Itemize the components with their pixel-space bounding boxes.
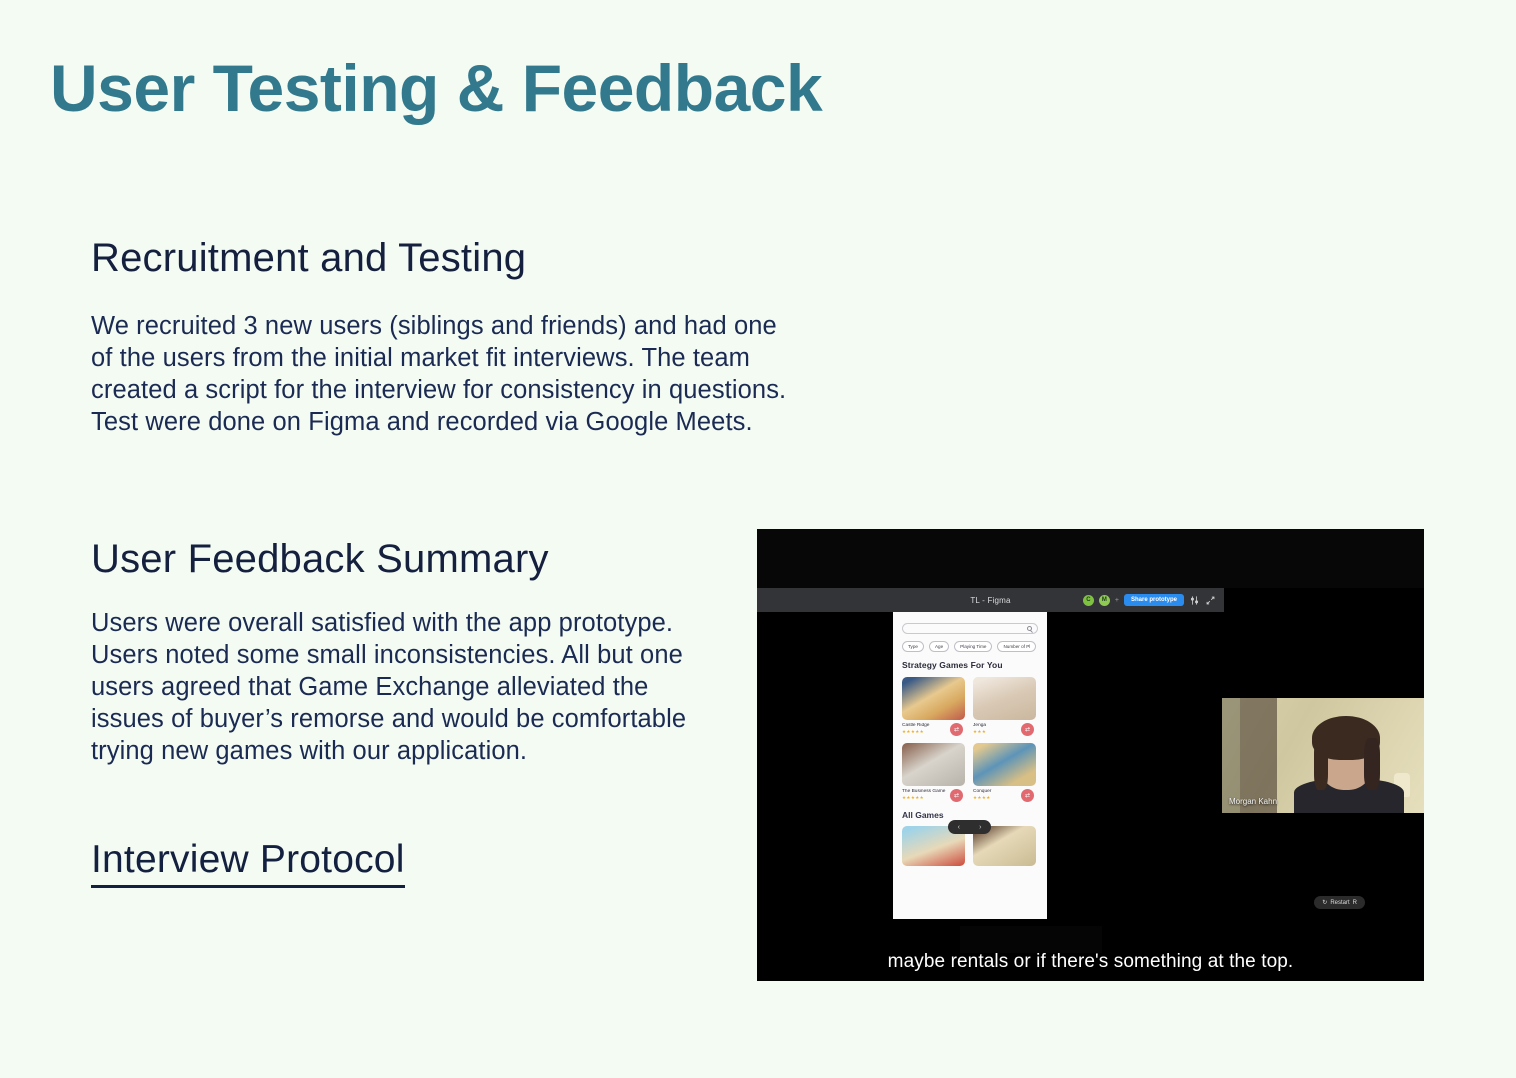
figma-toolbar: TL - Figma C M + Share prototype [757, 588, 1224, 612]
game-thumbnail [902, 743, 965, 786]
body-line: Users were overall satisfied with the ap… [91, 607, 821, 639]
body-line: We recruited 3 new users (siblings and f… [91, 310, 821, 342]
strategy-games-heading: Strategy Games For You [902, 660, 1047, 670]
slide: User Testing & Feedback Recruitment and … [0, 0, 1516, 1078]
game-thumbnail [973, 677, 1036, 720]
body-line: users agreed that Game Exchange alleviat… [91, 671, 821, 703]
body-line: created a script for the interview for c… [91, 374, 821, 406]
restart-shortcut: R [1353, 900, 1357, 906]
body-line: Users noted some small inconsistencies. … [91, 639, 821, 671]
expand-icon[interactable] [1205, 595, 1216, 606]
game-thumbnail [902, 677, 965, 720]
content-column: Recruitment and Testing We recruited 3 n… [91, 236, 821, 888]
section-heading-recruitment: Recruitment and Testing [91, 236, 821, 280]
prototype-search-input[interactable] [902, 623, 1038, 634]
background-wall [1222, 698, 1240, 813]
recording-screenshot[interactable]: TL - Figma C M + Share prototype [757, 529, 1424, 981]
game-thumbnail [973, 743, 1036, 786]
participant-hair-left [1314, 738, 1328, 790]
participant-name-label: Morgan Kahn [1229, 797, 1277, 806]
figma-toolbar-right: C M + Share prototype [1083, 594, 1216, 606]
section-body-recruitment: We recruited 3 new users (siblings and f… [91, 310, 821, 439]
game-card[interactable]: Castle Ridge ★★★★★ ⇄ [902, 677, 965, 735]
all-games-heading: All Games [902, 810, 1047, 820]
page-title: User Testing & Feedback [50, 55, 822, 121]
filter-chip-row: Type Age Playing Time Number of Pl [902, 641, 1047, 652]
body-line: issues of buyer’s remorse and would be c… [91, 703, 821, 735]
body-line: of the users from the initial market fit… [91, 342, 821, 374]
game-card[interactable]: Jenga ★★★ ⇄ [973, 677, 1036, 735]
caption-background-block [960, 926, 1102, 953]
refresh-icon: ↻ [1322, 899, 1327, 906]
section-recruitment-and-testing: Recruitment and Testing We recruited 3 n… [91, 236, 821, 439]
filter-chip-age[interactable]: Age [929, 641, 949, 652]
game-card[interactable]: The Business Game ★★★★★ ⇄ [902, 743, 965, 801]
search-icon [1027, 626, 1032, 631]
participant-video-tile[interactable]: Morgan Kahn [1222, 698, 1424, 813]
video-caption: maybe rentals or if there's something at… [757, 951, 1424, 973]
participant-hair-right [1364, 738, 1380, 790]
exchange-badge-icon[interactable]: ⇄ [950, 789, 963, 802]
filter-chip-number-of-players[interactable]: Number of Pl [997, 641, 1036, 652]
next-frame-icon[interactable]: › [979, 824, 981, 831]
section-body-feedback: Users were overall satisfied with the ap… [91, 607, 821, 768]
video-top-letterbox [757, 529, 1424, 588]
share-prototype-button[interactable]: Share prototype [1124, 594, 1184, 606]
prototype-phone-screen[interactable]: Type Age Playing Time Number of Pl Strat… [893, 612, 1047, 919]
background-shelf [1240, 698, 1277, 813]
exchange-badge-icon[interactable]: ⇄ [950, 723, 963, 736]
filter-chip-playing-time[interactable]: Playing Time [954, 641, 992, 652]
exchange-badge-icon[interactable]: ⇄ [1021, 789, 1034, 802]
avatar[interactable]: C [1083, 595, 1094, 606]
interview-protocol-link[interactable]: Interview Protocol [91, 839, 405, 888]
restart-label: Restart [1330, 900, 1349, 906]
exchange-badge-icon[interactable]: ⇄ [1021, 723, 1034, 736]
sliders-icon[interactable] [1189, 595, 1200, 606]
avatar[interactable]: M [1099, 595, 1110, 606]
prototype-nav-controls[interactable]: ‹ › [948, 820, 991, 834]
body-line: trying new games with our application. [91, 735, 821, 767]
section-heading-feedback: User Feedback Summary [91, 537, 821, 581]
prev-frame-icon[interactable]: ‹ [958, 824, 960, 831]
filter-chip-type[interactable]: Type [902, 641, 924, 652]
avatar-overflow-icon[interactable]: + [1115, 597, 1119, 604]
body-line: Test were done on Figma and recorded via… [91, 406, 821, 438]
game-card[interactable]: Conquer ★★★★ ⇄ [973, 743, 1036, 801]
section-user-feedback-summary: User Feedback Summary Users were overall… [91, 537, 821, 768]
strategy-games-grid: Castle Ridge ★★★★★ ⇄ Jenga ★★★ ⇄ The Bus… [902, 677, 1044, 801]
restart-button[interactable]: ↻ Restart R [1314, 896, 1365, 909]
